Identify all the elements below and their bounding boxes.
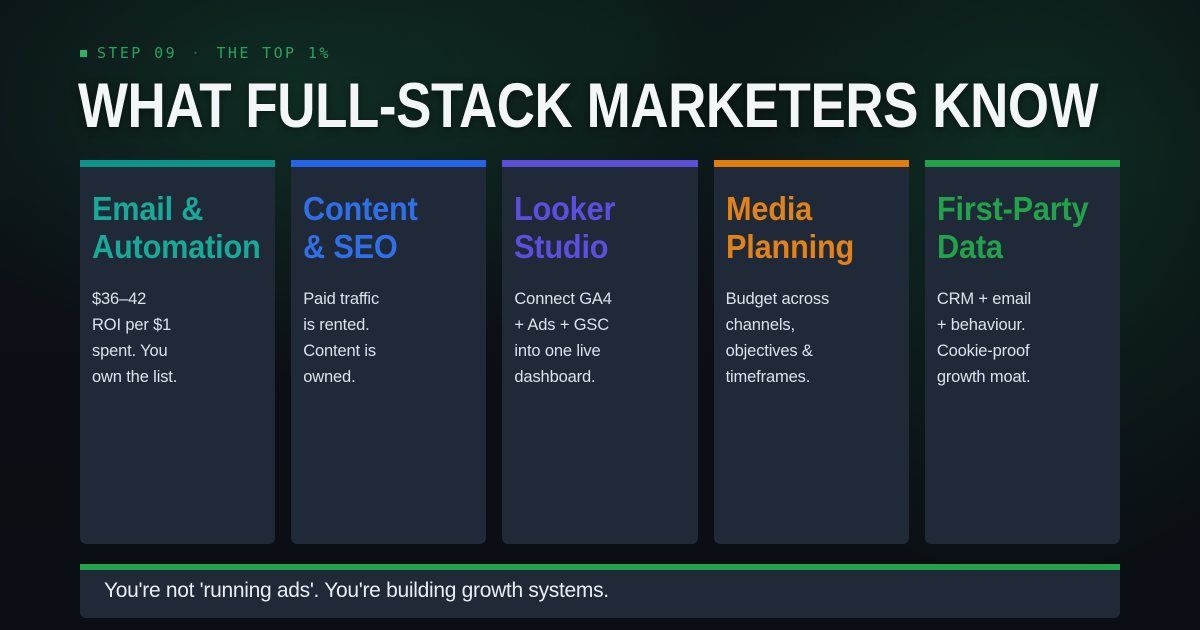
card-looker-studio[interactable]: Looker Studio Connect GA4 + Ads + GSC in… <box>502 160 697 544</box>
card-body: $36–42 ROI per $1 spent. You own the lis… <box>92 286 261 390</box>
card-content-seo[interactable]: Content & SEO Paid traffic is rented. Co… <box>291 160 486 544</box>
card-title: Email & Automation <box>92 190 249 266</box>
eyebrow: STEP 09 · THE TOP 1% <box>80 44 331 62</box>
card-first-party-data[interactable]: First-Party Data CRM + email + behaviour… <box>925 160 1120 544</box>
slide-canvas: STEP 09 · THE TOP 1% WHAT FULL-STACK MAR… <box>0 0 1200 630</box>
square-bullet-icon <box>80 50 87 57</box>
card-accent-bar <box>925 160 1120 167</box>
card-body: Connect GA4 + Ads + GSC into one live da… <box>514 286 683 390</box>
card-accent-bar <box>502 160 697 167</box>
card-body: Paid traffic is rented. Content is owned… <box>303 286 472 390</box>
page-title: WHAT FULL-STACK MARKETERS KNOW <box>78 74 1098 138</box>
footer-banner: You're not 'running ads'. You're buildin… <box>80 564 1120 618</box>
eyebrow-separator: · <box>187 44 206 62</box>
card-title: Looker Studio <box>514 190 671 266</box>
card-title: Content & SEO <box>303 190 460 266</box>
card-email-automation[interactable]: Email & Automation $36–42 ROI per $1 spe… <box>80 160 275 544</box>
card-accent-bar <box>714 160 909 167</box>
card-media-planning[interactable]: Media Planning Budget across channels, o… <box>714 160 909 544</box>
eyebrow-tagline: THE TOP 1% <box>216 44 330 62</box>
card-body: CRM + email + behaviour. Cookie-proof gr… <box>937 286 1106 390</box>
card-title: First-Party Data <box>937 190 1094 266</box>
card-title: Media Planning <box>726 190 883 266</box>
card-accent-bar <box>291 160 486 167</box>
card-grid: Email & Automation $36–42 ROI per $1 spe… <box>80 160 1120 544</box>
footer-accent-bar <box>80 564 1120 570</box>
eyebrow-step-label: STEP 09 <box>97 44 177 62</box>
card-accent-bar <box>80 160 275 167</box>
card-body: Budget across channels, objectives & tim… <box>726 286 895 390</box>
footer-text: You're not 'running ads'. You're buildin… <box>104 579 609 603</box>
